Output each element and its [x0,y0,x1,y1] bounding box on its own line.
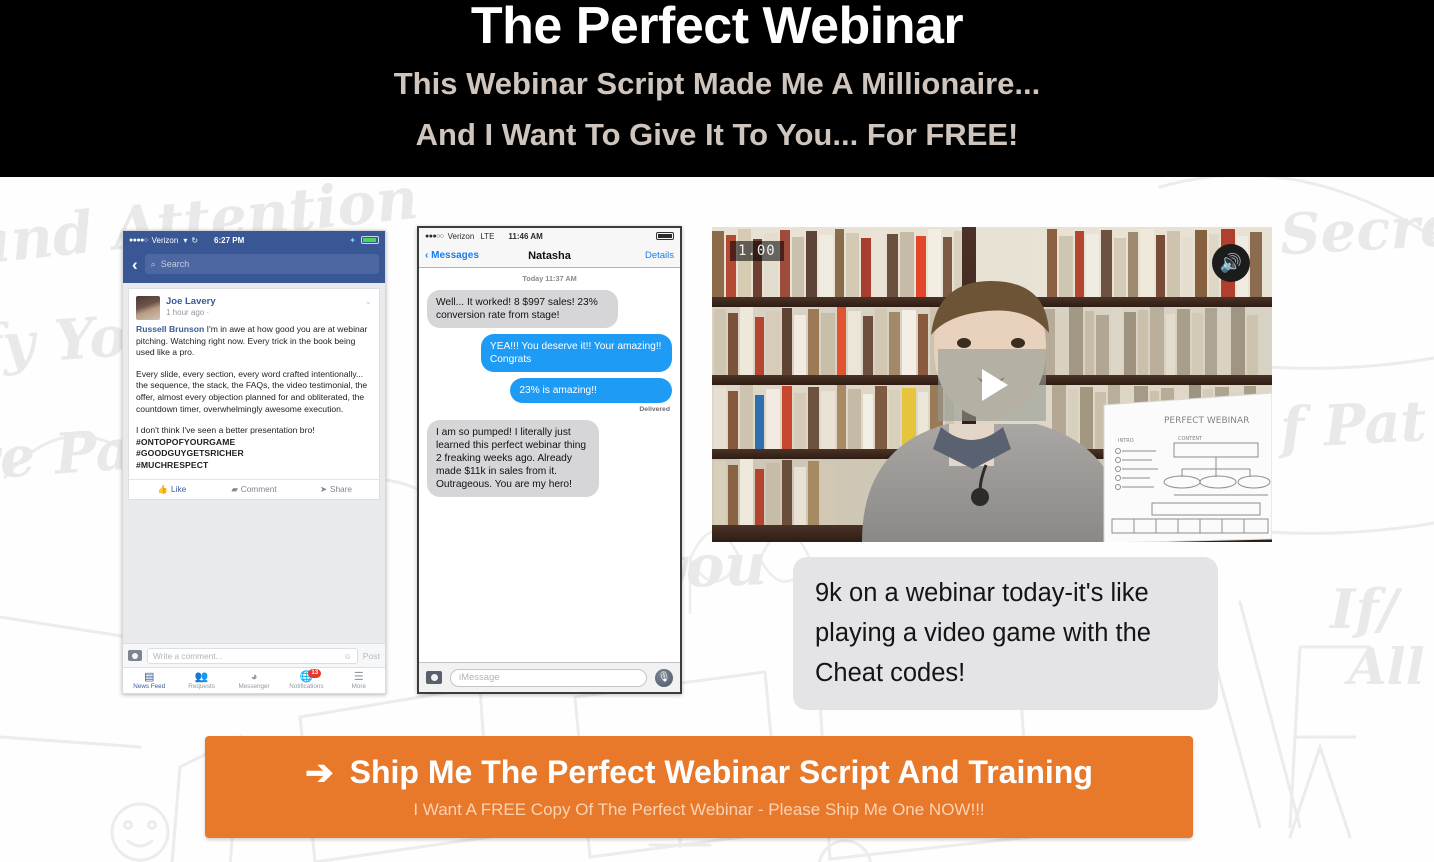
wifi-icon: ▾ [183,236,187,245]
post-paragraph-2: Every slide, every section, every word c… [136,369,372,415]
post-comment-button[interactable]: Post [363,651,380,661]
message-bubble: YEA!!! You deserve it!! Your amazing!! C… [481,334,672,372]
battery-icon [361,236,379,244]
post-mention[interactable]: Russell Brunson [136,324,204,334]
cta-sub-label: I Want A FREE Copy Of The Perfect Webina… [413,800,984,820]
thumbs-up-icon: 👍 [158,484,168,494]
comment-input[interactable]: Write a comment... ☺ [147,648,358,664]
share-button[interactable]: ➤Share [295,484,377,495]
imessage-placeholder: iMessage [459,672,500,683]
svg-text:INTRO: INTRO [1118,438,1134,444]
delivered-status: Delivered [427,406,670,413]
signal-dots-icon: ●●●●○ [129,237,148,244]
testimonial-bubble: 9k on a webinar today-it's like playing … [793,557,1218,710]
emoji-icon[interactable]: ☺ [343,651,351,661]
im-message-thread: Today 11:37 AM Well... It worked! 8 $997… [419,268,680,660]
share-icon: ➤ [320,484,327,494]
battery-icon [656,232,674,240]
im-status-bar: ●●●○○ Verizon LTE 11:46 AM [419,228,680,244]
tab-notifications[interactable]: 🌐13Notifications [280,668,332,693]
carrier-label: Verizon [448,232,475,241]
clock-label: 11:46 AM [508,232,542,241]
doodle-word-7: All [1348,637,1425,696]
svg-text:CONTENT: CONTENT [1178,436,1203,442]
clock-label: 6:27 PM [214,236,244,245]
thread-daystamp: Today 11:37 AM [427,274,672,283]
doodle-word-2: re Pa [0,416,134,493]
fb-post-card: Joe Lavery 1 hour ago · ⌄ Russell Brunso… [128,288,380,500]
post-hashtag-1[interactable]: #ONTOPOFYOURGAME [136,437,372,449]
search-input[interactable]: ⌕ Search [145,254,379,274]
im-compose-bar: iMessage 🎙 [419,662,680,692]
doodle-word-3: Secret [1278,192,1434,268]
cta-main-row: ➔ Ship Me The Perfect Webinar Script And… [305,754,1093,791]
tab-label-more: More [352,683,366,690]
doodle-word-4: f Pat [1278,388,1428,462]
comment-placeholder: Write a comment... [153,651,222,661]
tab-more[interactable]: ☰More [333,668,385,693]
chevron-down-icon[interactable]: ⌄ [364,296,372,307]
camera-icon[interactable] [426,671,442,684]
comment-label: Comment [241,484,277,494]
tab-label-messenger: Messenger [238,683,269,690]
imessage-input[interactable]: iMessage [450,669,647,687]
video-player[interactable]: PERFECT WEBINAR INTRO CONTENT [712,227,1272,542]
imessage-screenshot: ●●●○○ Verizon LTE 11:46 AM ‹ Messages Na… [417,226,682,694]
globe-icon: 🌐 [280,671,332,683]
post-timestamp: 1 hour ago · [166,308,364,317]
fb-post-header: Joe Lavery 1 hour ago · ⌄ [129,289,379,323]
conversation-title: Natasha [419,250,680,262]
tab-news-feed[interactable]: ▤News Feed [123,668,175,693]
details-button[interactable]: Details [645,250,674,261]
tab-label-requests: Requests [188,683,215,690]
like-label: Like [171,484,186,494]
message-bubble: Well... It worked! 8 $997 sales! 23% con… [427,290,618,328]
back-button[interactable]: ‹ [132,256,138,273]
play-button[interactable] [938,349,1046,421]
post-hashtag-2[interactable]: #GOODGUYGETSRICHER [136,448,372,460]
post-paragraph-1: Russell Brunson I'm in awe at how good y… [136,324,372,359]
search-placeholder: Search [161,259,190,269]
svg-text:PERFECT WEBINAR: PERFECT WEBINAR [1164,416,1249,426]
fb-comment-bar: Write a comment... ☺ Post [123,643,385,667]
like-button[interactable]: 👍Like [131,484,213,495]
tab-label-news-feed: News Feed [133,683,165,690]
fb-post-actions: 👍Like ▰Comment ➤Share [129,479,379,499]
fb-status-bar: ●●●●○ Verizon ▾ ↻ 6:27 PM ✦ [123,231,385,249]
comment-icon: ▰ [231,484,237,494]
page-subtitle-line1: This Webinar Script Made Me A Millionair… [0,66,1434,102]
cta-main-label: Ship Me The Perfect Webinar Script And T… [350,754,1093,791]
post-hashtag-3[interactable]: #MUCHRESPECT [136,460,372,472]
tab-label-notifications: Notifications [289,683,323,690]
search-icon: ⌕ [151,259,156,270]
video-time-label: 1.00 [730,241,784,261]
signal-dots-icon: ●●●○○ [425,233,444,240]
microphone-icon[interactable]: 🎙 [655,669,673,687]
arrow-right-icon: ➔ [305,756,334,790]
friend-requests-icon: 👥 [175,671,227,683]
messenger-icon: ◕ [228,671,280,683]
avatar [136,296,160,320]
tab-requests[interactable]: 👥Requests [175,668,227,693]
facebook-post-screenshot: ●●●●○ Verizon ▾ ↻ 6:27 PM ✦ ‹ ⌕ Search J… [122,230,386,694]
page-title: The Perfect Webinar [0,0,1434,62]
speaker-on-icon[interactable]: 🔊 [1212,244,1250,282]
message-bubble: I am so pumped! I literally just learned… [427,420,599,497]
fb-post-body: Russell Brunson I'm in awe at how good y… [129,323,379,479]
post-paragraph-3: I don't think I've seen a better present… [136,425,372,437]
hamburger-icon: ☰ [333,671,385,683]
news-feed-icon: ▤ [123,671,175,683]
cta-button[interactable]: ➔ Ship Me The Perfect Webinar Script And… [205,736,1193,838]
network-label: LTE [480,232,494,241]
camera-icon[interactable] [128,650,142,661]
share-label: Share [330,484,352,494]
refresh-icon: ↻ [191,236,198,245]
bluetooth-icon: ✦ [349,236,356,245]
comment-button[interactable]: ▰Comment [213,484,295,495]
carrier-label: Verizon [152,236,179,245]
tab-messenger[interactable]: ◕Messenger [228,668,280,693]
post-author[interactable]: Joe Lavery [166,296,364,307]
fb-tab-bar: ▤News Feed 👥Requests ◕Messenger 🌐13Notif… [123,667,385,693]
page-subtitle-line2: And I Want To Give It To You... For FREE… [0,117,1434,153]
fb-news-feed: Joe Lavery 1 hour ago · ⌄ Russell Brunso… [123,283,385,693]
message-bubble: 23% is amazing!! [510,378,672,403]
doodle-word-6: If/ [1330,577,1398,641]
notifications-badge: 13 [308,669,321,678]
page-header: The Perfect Webinar This Webinar Script … [0,0,1434,177]
fb-nav-bar: ‹ ⌕ Search [123,249,385,283]
play-icon [982,369,1008,401]
im-nav-bar: ‹ Messages Natasha Details [419,244,680,268]
